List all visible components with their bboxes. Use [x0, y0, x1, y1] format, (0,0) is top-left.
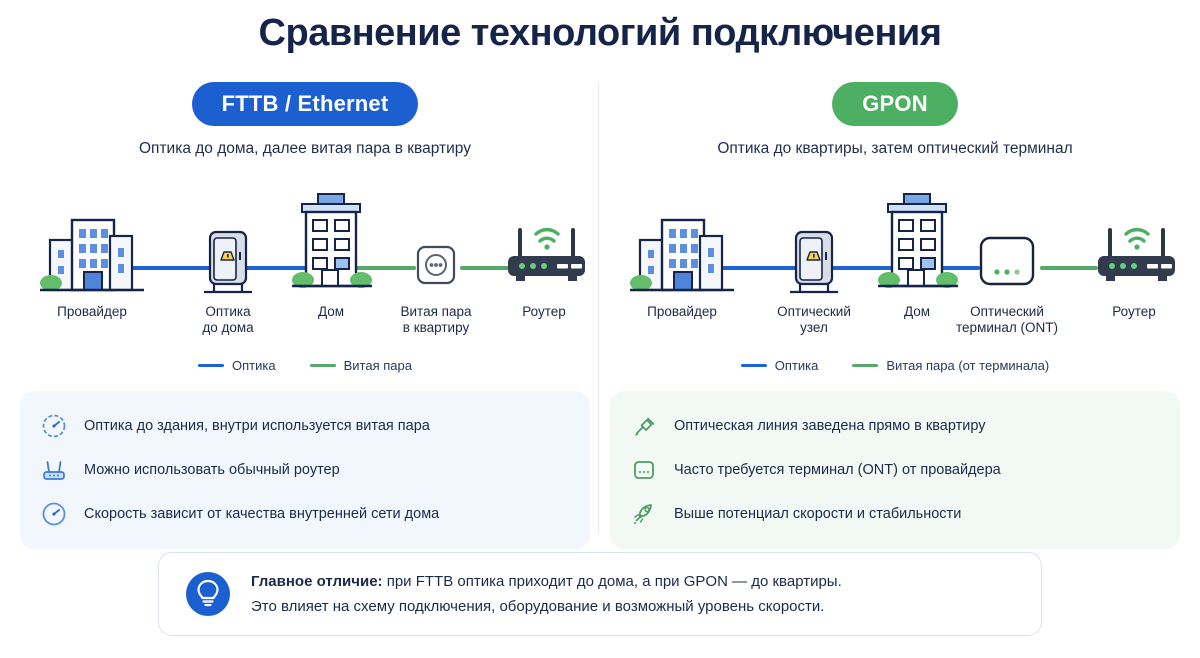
feature-text: Часто требуется терминал (ONT) от провай…: [674, 462, 1001, 478]
callout-line-2: Это влияет на схему подключения, оборудо…: [251, 594, 842, 619]
legend-label-pair: Витая пара (от терминала): [886, 358, 1049, 373]
street-cabinet-icon: [786, 222, 842, 298]
subtitle-fttb: Оптика до дома, далее витая пара в кварт…: [20, 140, 590, 158]
wall-socket-icon: [415, 244, 457, 286]
legend-item-pair: Витая пара (от терминала): [852, 358, 1049, 373]
column-fttb: FTTB / Ethernet Оптика до дома, далее ви…: [20, 82, 590, 549]
subtitle-gpon: Оптика до квартиры, затем оптический тер…: [610, 140, 1180, 158]
node-router: [498, 214, 594, 286]
legend-swatch-fiber: [198, 364, 224, 367]
legend-item-pair: Витая пара: [310, 358, 412, 373]
feature-text: Оптика до здания, внутри используется ви…: [84, 418, 430, 434]
legend-label-pair: Витая пара: [344, 358, 412, 373]
captions-gpon: Провайдер Оптическийузел Дом Оптическийт…: [610, 304, 1180, 350]
page-title: Сравнение технологий подключения: [0, 12, 1200, 55]
caption-twisted-pair: Витая парав квартиру: [376, 304, 496, 336]
features-fttb: Оптика до здания, внутри используется ви…: [20, 391, 590, 549]
fiber-plug-icon: [630, 412, 658, 440]
feature-text: Можно использовать обычный роутер: [84, 462, 340, 478]
legend-label-fiber: Оптика: [232, 358, 276, 373]
badge-fttb: FTTB / Ethernet: [192, 82, 419, 126]
node-house: [288, 190, 374, 298]
node-ont-terminal: [976, 232, 1038, 290]
router-icon: [1088, 214, 1184, 286]
node-provider: [628, 198, 736, 298]
callout-lead: Главное отличие:: [251, 573, 383, 590]
callout-line-1-rest: при FTTB оптика приходит до дома, а при …: [383, 573, 842, 590]
legend-item-fiber: Оптика: [741, 358, 819, 373]
node-optics-to-house: [200, 222, 256, 298]
caption-ont: Оптическийтерминал (ONT): [927, 304, 1087, 336]
legend-item-fiber: Оптика: [198, 358, 276, 373]
caption-router: Роутер: [484, 304, 604, 320]
infographic-page: Сравнение технологий подключения FTTB / …: [0, 0, 1200, 658]
badge-gpon: GPON: [832, 82, 958, 126]
callout-text: Главное отличие: при FTTB оптика приходи…: [251, 569, 842, 619]
lightbulb-icon: [185, 571, 231, 617]
feature-item: Часто требуется терминал (ONT) от провай…: [630, 451, 1158, 489]
feature-text: Скорость зависит от качества внутренней …: [84, 506, 439, 522]
feature-item: Можно использовать обычный роутер: [40, 451, 568, 489]
feature-text: Выше потенциал скорости и стабильности: [674, 506, 961, 522]
caption-provider: Провайдер: [622, 304, 742, 320]
feature-text: Оптическая линия заведена прямо в кварти…: [674, 418, 986, 434]
ont-terminal-icon: [976, 232, 1038, 290]
rocket-icon: [630, 500, 658, 528]
legend-label-fiber: Оптика: [775, 358, 819, 373]
street-cabinet-icon: [200, 222, 256, 298]
legend-swatch-fiber: [741, 364, 767, 367]
router-icon: [498, 214, 594, 286]
caption-optical-node: Оптическийузел: [754, 304, 874, 336]
captions-fttb: Провайдер Оптикадо дома Дом Витая парав …: [20, 304, 590, 350]
caption-house: Дом: [271, 304, 391, 320]
provider-building-icon: [628, 198, 736, 298]
caption-router: Роутер: [1074, 304, 1194, 320]
diagram-gpon: [610, 180, 1180, 298]
node-provider: [38, 198, 146, 298]
feature-item: Оптика до здания, внутри используется ви…: [40, 407, 568, 445]
legend-fttb: Оптика Витая пара: [20, 358, 590, 373]
provider-building-icon: [38, 198, 146, 298]
legend-gpon: Оптика Витая пара (от терминала): [610, 358, 1180, 373]
callout-key-difference: Главное отличие: при FTTB оптика приходи…: [158, 552, 1042, 636]
legend-swatch-pair: [310, 364, 336, 367]
feature-item: Скорость зависит от качества внутренней …: [40, 495, 568, 533]
features-gpon: Оптическая линия заведена прямо в кварти…: [610, 391, 1180, 549]
feature-item: Выше потенциал скорости и стабильности: [630, 495, 1158, 533]
router-line-icon: [40, 456, 68, 484]
caption-provider: Провайдер: [32, 304, 152, 320]
node-wall-socket: [415, 244, 457, 286]
diagram-fttb: [20, 180, 590, 298]
node-optical-node: [786, 222, 842, 298]
ont-box-icon: [630, 456, 658, 484]
column-gpon: GPON Оптика до квартиры, затем оптически…: [610, 82, 1180, 549]
node-house: [874, 190, 960, 298]
legend-swatch-pair: [852, 364, 878, 367]
node-router: [1088, 214, 1184, 286]
callout-line-1: Главное отличие: при FTTB оптика приходи…: [251, 569, 842, 594]
speed-gauge-icon: [40, 500, 68, 528]
speed-gauge-icon: [40, 412, 68, 440]
apartment-building-icon: [288, 190, 374, 298]
feature-item: Оптическая линия заведена прямо в кварти…: [630, 407, 1158, 445]
apartment-building-icon: [874, 190, 960, 298]
caption-optics: Оптикадо дома: [168, 304, 288, 336]
